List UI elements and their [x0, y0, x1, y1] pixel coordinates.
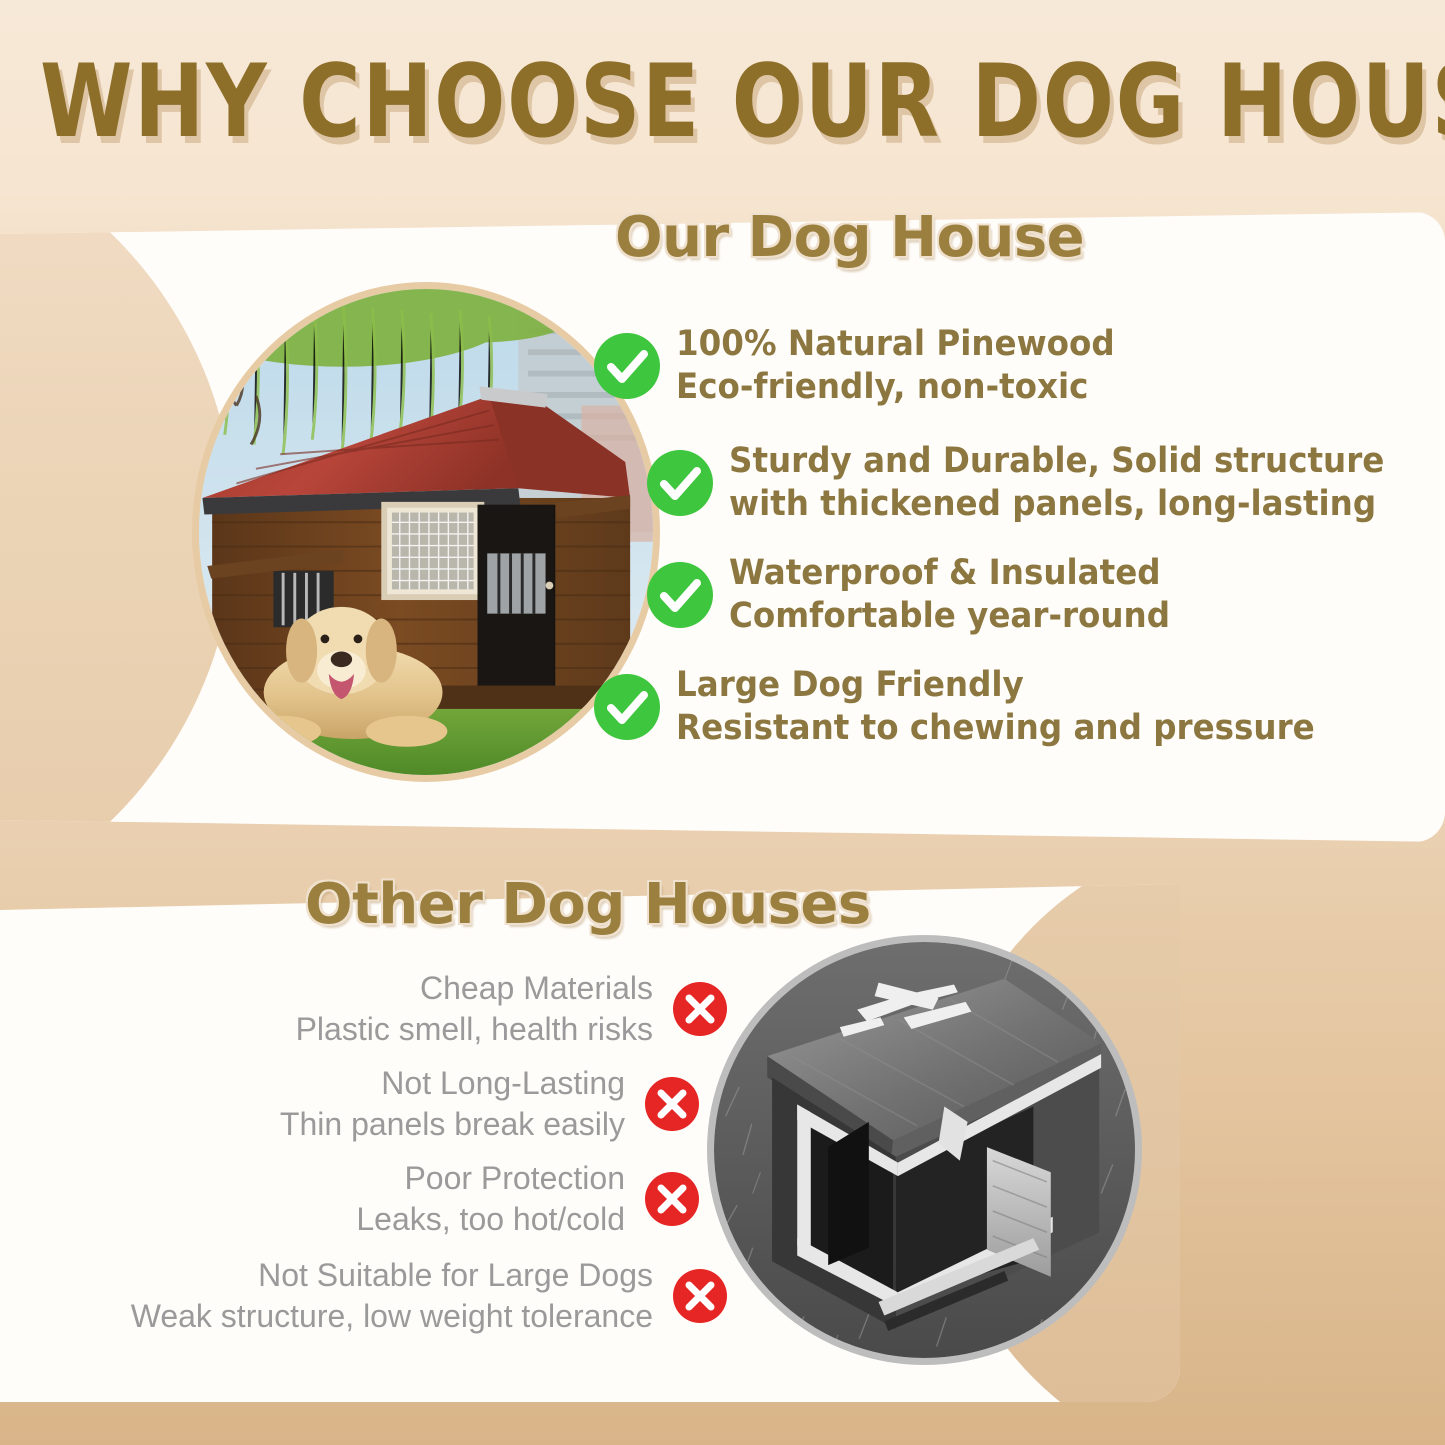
check-icon: [592, 331, 662, 401]
con-row-not-long-lasting: Not Long-Lasting Thin panels break easil…: [280, 1063, 701, 1145]
section-heading-our-dog-house: Our Dog House: [615, 208, 1084, 268]
con-line-2: Weak structure, low weight tolerance: [131, 1296, 653, 1337]
feature-line-2: Resistant to chewing and pressure: [676, 707, 1315, 750]
feature-row-natural-pinewood: 100% Natural Pinewood Eco-friendly, non-…: [592, 323, 1148, 409]
cross-icon: [643, 1075, 701, 1133]
con-text: Cheap Materials Plastic smell, health ri…: [296, 968, 653, 1050]
feature-line-2: Eco-friendly, non-toxic: [676, 366, 1115, 409]
cross-icon: [671, 1267, 729, 1325]
check-icon: [645, 560, 715, 630]
feature-line-1: 100% Natural Pinewood: [676, 324, 1115, 364]
page-title-bar: WHY CHOOSE OUR DOG HOUSE?": [0, 46, 1445, 164]
con-line-1: Cheap Materials: [420, 970, 653, 1006]
feature-line-1: Sturdy and Durable, Solid structure: [729, 441, 1384, 481]
con-line-2: Leaks, too hot/cold: [356, 1199, 625, 1240]
con-line-2: Plastic smell, health risks: [296, 1009, 653, 1050]
check-icon: [645, 448, 715, 518]
feature-row-large-dog-friendly: Large Dog Friendly Resistant to chewing …: [592, 664, 1363, 750]
con-line-1: Poor Protection: [404, 1160, 625, 1196]
con-text: Not Long-Lasting Thin panels break easil…: [280, 1063, 625, 1145]
feature-line-2: with thickened panels, long-lasting: [729, 483, 1384, 526]
cross-icon: [671, 980, 729, 1038]
con-text: Poor Protection Leaks, too hot/cold: [356, 1158, 625, 1240]
feature-row-sturdy-durable: Sturdy and Durable, Solid structure with…: [645, 440, 1434, 526]
cross-icon: [643, 1170, 701, 1228]
con-row-not-suitable-large-dogs: Not Suitable for Large Dogs Weak structu…: [131, 1255, 729, 1337]
feature-text: Large Dog Friendly Resistant to chewing …: [676, 664, 1315, 750]
page-title: WHY CHOOSE OUR DOG HOUSE?": [40, 46, 1445, 156]
con-row-poor-protection: Poor Protection Leaks, too hot/cold: [356, 1158, 701, 1240]
feature-line-2: Comfortable year-round: [729, 595, 1170, 638]
feature-text: Waterproof & Insulated Comfortable year-…: [729, 552, 1170, 638]
con-row-cheap-materials: Cheap Materials Plastic smell, health ri…: [296, 968, 729, 1050]
con-line-1: Not Suitable for Large Dogs: [258, 1257, 653, 1293]
section-heading-other-dog-houses: Other Dog Houses: [305, 875, 871, 935]
con-text: Not Suitable for Large Dogs Weak structu…: [131, 1255, 653, 1337]
con-line-2: Thin panels break easily: [280, 1104, 625, 1145]
feature-text: Sturdy and Durable, Solid structure with…: [729, 440, 1384, 526]
feature-line-1: Waterproof & Insulated: [729, 553, 1161, 593]
other-dog-houses-feature-list: Cheap Materials Plastic smell, health ri…: [0, 884, 1180, 1402]
feature-text: 100% Natural Pinewood Eco-friendly, non-…: [676, 323, 1115, 409]
check-icon: [592, 672, 662, 742]
feature-line-1: Large Dog Friendly: [676, 665, 1024, 705]
feature-row-waterproof-insulated: Waterproof & Insulated Comfortable year-…: [645, 552, 1203, 638]
our-dog-house-feature-list: 100% Natural Pinewood Eco-friendly, non-…: [0, 212, 1445, 842]
con-line-1: Not Long-Lasting: [381, 1065, 625, 1101]
